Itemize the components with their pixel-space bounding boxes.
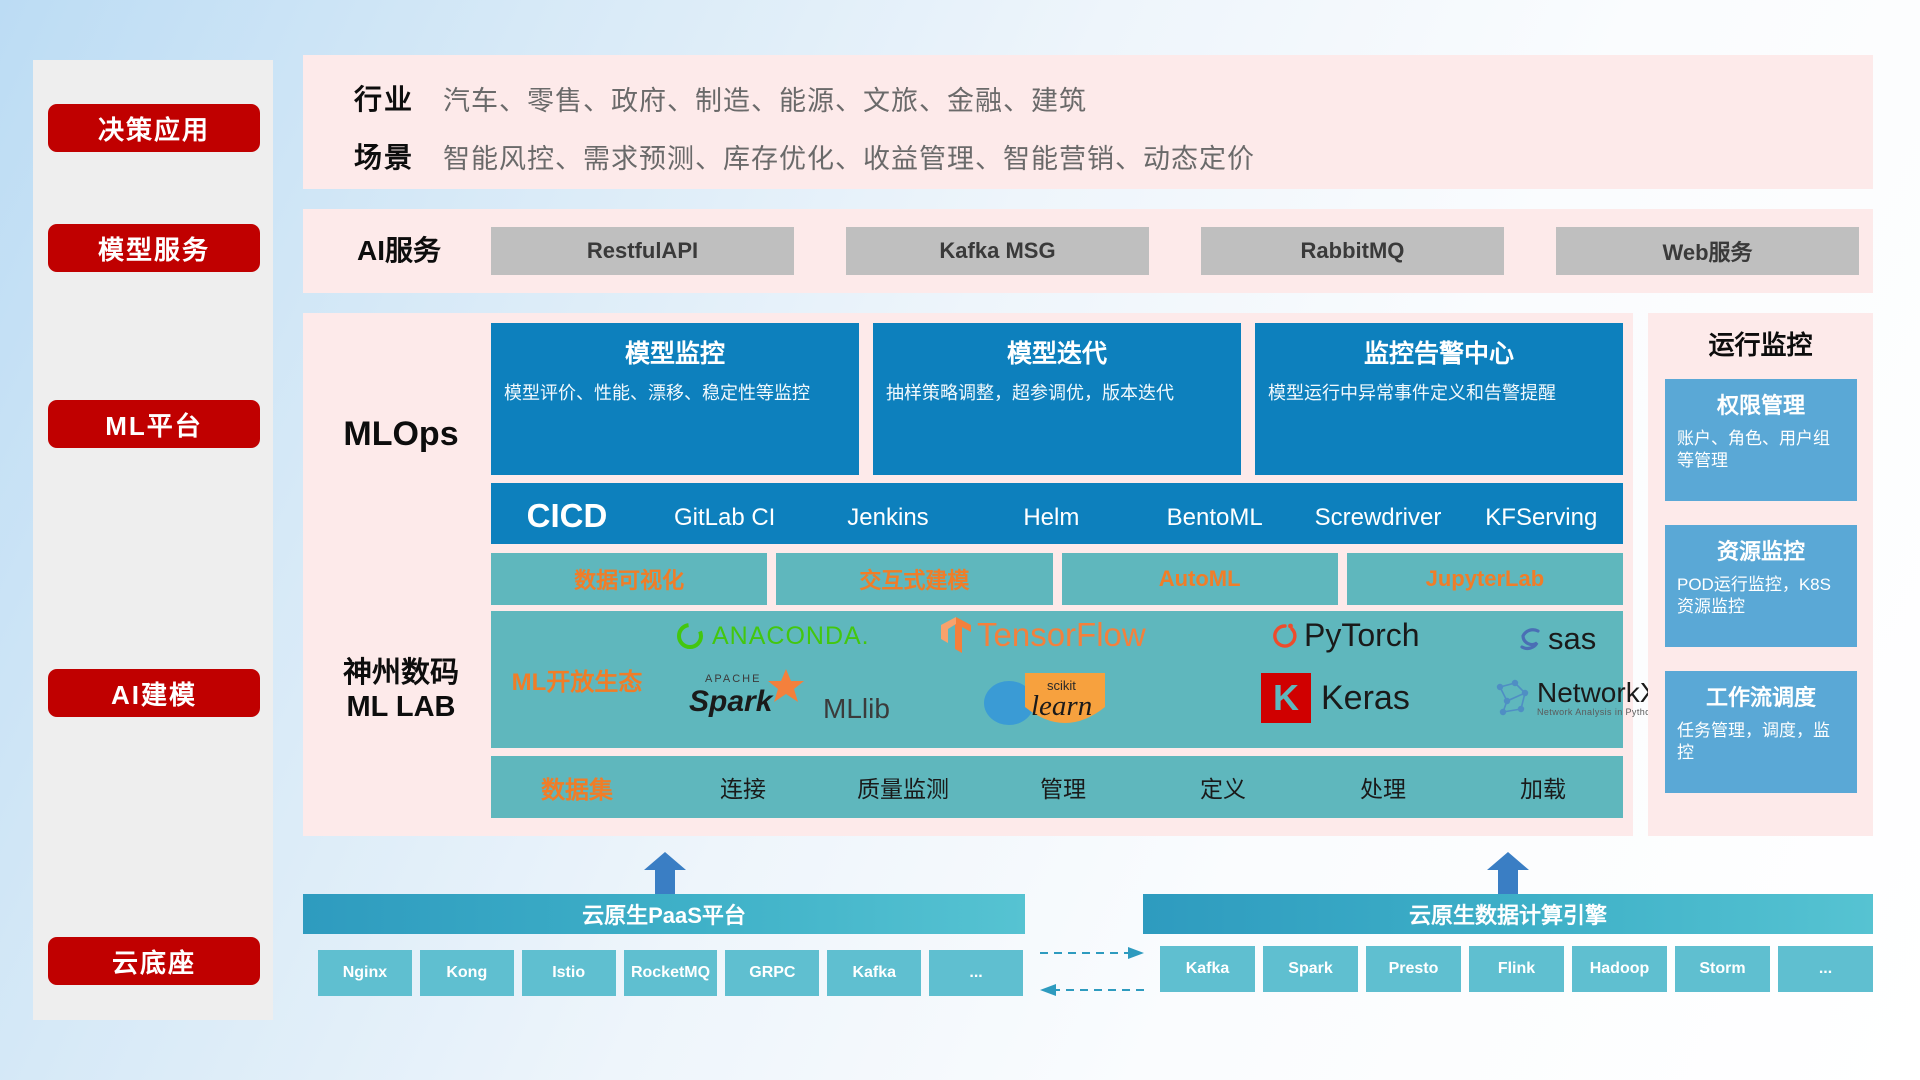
- ml-lab-label-line1: 神州数码: [343, 656, 459, 690]
- dataset-item-quality[interactable]: 质量监测: [823, 770, 983, 804]
- cicd-item-jenkins[interactable]: Jenkins: [806, 483, 969, 535]
- dataset-item-connect[interactable]: 连接: [663, 770, 823, 804]
- stage-label: 模型服务: [98, 230, 210, 267]
- ml-lab-label-line2: ML LAB: [343, 690, 459, 724]
- ai-service-chip-restfulapi[interactable]: RestfulAPI: [491, 227, 794, 275]
- mlops-band: MLOps 模型监控 模型评价、性能、漂移、稳定性等监控 模型迭代 抽样策略调整…: [303, 313, 1633, 556]
- cloud-data-engine-chip-row: Kafka Spark Presto Flink Hadoop Storm ..…: [1160, 946, 1873, 992]
- scenario-values: 智能风控、需求预测、库存优化、收益管理、智能营销、动态定价: [443, 137, 1255, 176]
- ai-service-label: AI服务: [319, 209, 479, 293]
- dataset-item-load[interactable]: 加载: [1463, 770, 1623, 804]
- paas-chip-kafka[interactable]: Kafka: [827, 950, 921, 996]
- keras-mark-icon: K: [1261, 673, 1311, 723]
- dataset-row: 数据集 连接 质量监测 管理 定义 处理 加载: [491, 756, 1623, 818]
- stage-chip-model-service[interactable]: 模型服务: [48, 224, 260, 272]
- card-desc: 模型运行中异常事件定义和告警提醒: [1268, 382, 1610, 406]
- anaconda-mark-icon: [675, 621, 705, 651]
- mon-card-workflow[interactable]: 工作流调度 任务管理，调度，监控: [1665, 671, 1857, 793]
- networkx-wordmark: NetworkX: [1537, 679, 1658, 707]
- data-chip-hadoop[interactable]: Hadoop: [1572, 946, 1667, 992]
- stage-label: 云底座: [112, 943, 196, 980]
- dataset-item-process[interactable]: 处理: [1303, 770, 1463, 804]
- networkx-text-group: NetworkX Network Analysis in Python: [1537, 679, 1658, 717]
- stage-chip-decision-app[interactable]: 决策应用: [48, 104, 260, 152]
- apache-wordmark: APACHE: [705, 673, 761, 685]
- sas-logo: sas: [1515, 621, 1596, 657]
- anaconda-logo: ANACONDA.: [675, 621, 870, 651]
- sas-wordmark: sas: [1548, 621, 1596, 657]
- ai-service-band: AI服务 RestfulAPI Kafka MSG RabbitMQ Web服务: [303, 209, 1873, 293]
- data-chip-more[interactable]: ...: [1778, 946, 1873, 992]
- spark-wordmark: Spark: [689, 685, 772, 719]
- card-desc: 模型评价、性能、漂移、稳定性等监控: [504, 382, 846, 406]
- stage-chip-ml-platform[interactable]: ML平台: [48, 400, 260, 448]
- paas-chip-rocketmq[interactable]: RocketMQ: [624, 950, 718, 996]
- cicd-item-bentoml[interactable]: BentoML: [1133, 483, 1296, 535]
- ai-service-chip-rabbitmq[interactable]: RabbitMQ: [1201, 227, 1504, 275]
- mlops-card-model-iteration[interactable]: 模型迭代 抽样策略调整，超参调优，版本迭代: [873, 323, 1241, 475]
- card-desc: 任务管理，调度，监控: [1677, 720, 1845, 765]
- stage-label: ML平台: [105, 406, 203, 443]
- scenario-row: 场景 智能风控、需求预测、库存优化、收益管理、智能营销、动态定价: [325, 129, 1255, 183]
- mon-card-permission[interactable]: 权限管理 账户、角色、用户组等管理: [1665, 379, 1857, 501]
- paas-chip-istio[interactable]: Istio: [522, 950, 616, 996]
- paas-chip-nginx[interactable]: Nginx: [318, 950, 412, 996]
- card-desc: 抽样策略调整，超参调优，版本迭代: [886, 382, 1228, 406]
- cicd-item-kfserving[interactable]: KFServing: [1460, 483, 1623, 535]
- data-chip-kafka[interactable]: Kafka: [1160, 946, 1255, 992]
- stage-label: 决策应用: [98, 110, 210, 147]
- cloud-data-engine-header: 云原生数据计算引擎: [1143, 894, 1873, 934]
- cloud-bidirectional-connector-icon: [1040, 944, 1144, 1000]
- learn-wordmark: learn: [1031, 690, 1092, 723]
- industry-label: 行业: [325, 78, 443, 118]
- keras-wordmark: Keras: [1321, 679, 1410, 718]
- card-title: 监控告警中心: [1268, 334, 1610, 370]
- ml-ecosystem-panel: ML开放生态 ANACONDA. TensorFlow: [491, 611, 1623, 748]
- sas-mark-icon: [1515, 624, 1545, 654]
- scikit-learn-logo: scikit learn: [981, 673, 1171, 731]
- mlops-card-alert-center[interactable]: 监控告警中心 模型运行中异常事件定义和告警提醒: [1255, 323, 1623, 475]
- ml-lab-tool-jupyterlab[interactable]: JupyterLab: [1347, 553, 1623, 605]
- tensorflow-logo: TensorFlow: [939, 615, 1146, 655]
- card-title: 资源监控: [1677, 534, 1845, 566]
- dataset-item-define[interactable]: 定义: [1143, 770, 1303, 804]
- ml-ecosystem-title: ML开放生态: [491, 662, 663, 697]
- networkx-tagline: Network Analysis in Python: [1537, 707, 1658, 717]
- pytorch-mark-icon: [1271, 620, 1299, 652]
- networkx-mark-icon: [1491, 677, 1533, 719]
- ml-ecosystem-logo-area: ANACONDA. TensorFlow PyTorch: [663, 611, 1623, 748]
- industry-row: 行业 汽车、零售、政府、制造、能源、文旅、金融、建筑: [325, 71, 1087, 125]
- ai-service-chip-kafka-msg[interactable]: Kafka MSG: [846, 227, 1149, 275]
- ml-lab-label: 神州数码 ML LAB: [311, 544, 491, 836]
- card-desc: 账户、角色、用户组等管理: [1677, 428, 1845, 473]
- spark-mllib-logo: APACHE Spark MLlib: [687, 673, 890, 729]
- cicd-item-gitlab-ci[interactable]: GitLab CI: [643, 483, 806, 535]
- tensorflow-mark-icon: [939, 615, 973, 655]
- data-chip-flink[interactable]: Flink: [1469, 946, 1564, 992]
- card-title: 权限管理: [1677, 388, 1845, 420]
- ml-lab-tool-row: 数据可视化 交互式建模 AutoML JupyterLab: [491, 553, 1623, 605]
- mlops-card-model-monitoring[interactable]: 模型监控 模型评价、性能、漂移、稳定性等监控: [491, 323, 859, 475]
- ml-lab-band: 神州数码 ML LAB 数据可视化 交互式建模 AutoML JupyterLa…: [303, 544, 1633, 836]
- ml-lab-tool-interactive-modeling[interactable]: 交互式建模: [776, 553, 1052, 605]
- runtime-monitoring-title: 运行监控: [1648, 325, 1873, 362]
- stage-rail: [33, 60, 273, 1020]
- ai-service-chip-web-service[interactable]: Web服务: [1556, 227, 1859, 275]
- spark-mark-group: APACHE Spark: [687, 673, 815, 729]
- dataset-item-manage[interactable]: 管理: [983, 770, 1143, 804]
- paas-chip-kong[interactable]: Kong: [420, 950, 514, 996]
- mon-card-resource[interactable]: 资源监控 POD运行监控，K8S资源监控: [1665, 525, 1857, 647]
- industry-values: 汽车、零售、政府、制造、能源、文旅、金融、建筑: [443, 79, 1087, 118]
- card-desc: POD运行监控，K8S资源监控: [1677, 574, 1845, 619]
- ml-lab-tool-automl[interactable]: AutoML: [1062, 553, 1338, 605]
- stage-chip-cloud-base[interactable]: 云底座: [48, 937, 260, 985]
- mlops-card-row: 模型监控 模型评价、性能、漂移、稳定性等监控 模型迭代 抽样策略调整，超参调优，…: [491, 323, 1623, 475]
- data-chip-storm[interactable]: Storm: [1675, 946, 1770, 992]
- cicd-title: CICD: [491, 483, 643, 535]
- dataset-title: 数据集: [491, 770, 663, 805]
- ai-service-chip-row: RestfulAPI Kafka MSG RabbitMQ Web服务: [491, 227, 1859, 275]
- cloud-paas-chip-row: Nginx Kong Istio RocketMQ GRPC Kafka ...: [318, 950, 1023, 996]
- anaconda-wordmark: ANACONDA.: [712, 622, 870, 651]
- card-title: 模型迭代: [886, 334, 1228, 370]
- stage-chip-ai-modeling[interactable]: AI建模: [48, 669, 260, 717]
- tensorflow-wordmark: TensorFlow: [977, 616, 1146, 654]
- paas-chip-grpc[interactable]: GRPC: [725, 950, 819, 996]
- paas-chip-more[interactable]: ...: [929, 950, 1023, 996]
- cicd-item-screwdriver[interactable]: Screwdriver: [1296, 483, 1459, 535]
- cloud-paas-header: 云原生PaaS平台: [303, 894, 1025, 934]
- runtime-monitoring-band: 运行监控 权限管理 账户、角色、用户组等管理 资源监控 POD运行监控，K8S资…: [1648, 313, 1873, 836]
- architecture-diagram: 决策应用 模型服务 ML平台 AI建模 云底座 行业 汽车、零售、政府、制造、能…: [0, 0, 1920, 1080]
- data-engine-up-arrow-icon: [1487, 852, 1529, 896]
- pytorch-logo: PyTorch: [1271, 617, 1420, 654]
- industry-scenario-band: 行业 汽车、零售、政府、制造、能源、文旅、金融、建筑 场景 智能风控、需求预测、…: [303, 55, 1873, 189]
- paas-up-arrow-icon: [644, 852, 686, 896]
- card-title: 模型监控: [504, 334, 846, 370]
- networkx-logo: NetworkX Network Analysis in Python: [1491, 677, 1658, 719]
- data-chip-spark[interactable]: Spark: [1263, 946, 1358, 992]
- mllib-wordmark: MLlib: [823, 693, 890, 729]
- keras-mark-letter: K: [1273, 677, 1299, 719]
- cicd-bar: CICD GitLab CI Jenkins Helm BentoML Scre…: [491, 483, 1623, 549]
- card-title: 工作流调度: [1677, 680, 1845, 712]
- stage-label: AI建模: [111, 675, 197, 712]
- scenario-label: 场景: [325, 136, 443, 176]
- cicd-item-helm[interactable]: Helm: [970, 483, 1133, 535]
- data-chip-presto[interactable]: Presto: [1366, 946, 1461, 992]
- keras-logo: K Keras: [1261, 673, 1410, 723]
- pytorch-wordmark: PyTorch: [1304, 617, 1420, 654]
- ml-lab-tool-data-visualization[interactable]: 数据可视化: [491, 553, 767, 605]
- mlops-label: MLOps: [311, 313, 491, 556]
